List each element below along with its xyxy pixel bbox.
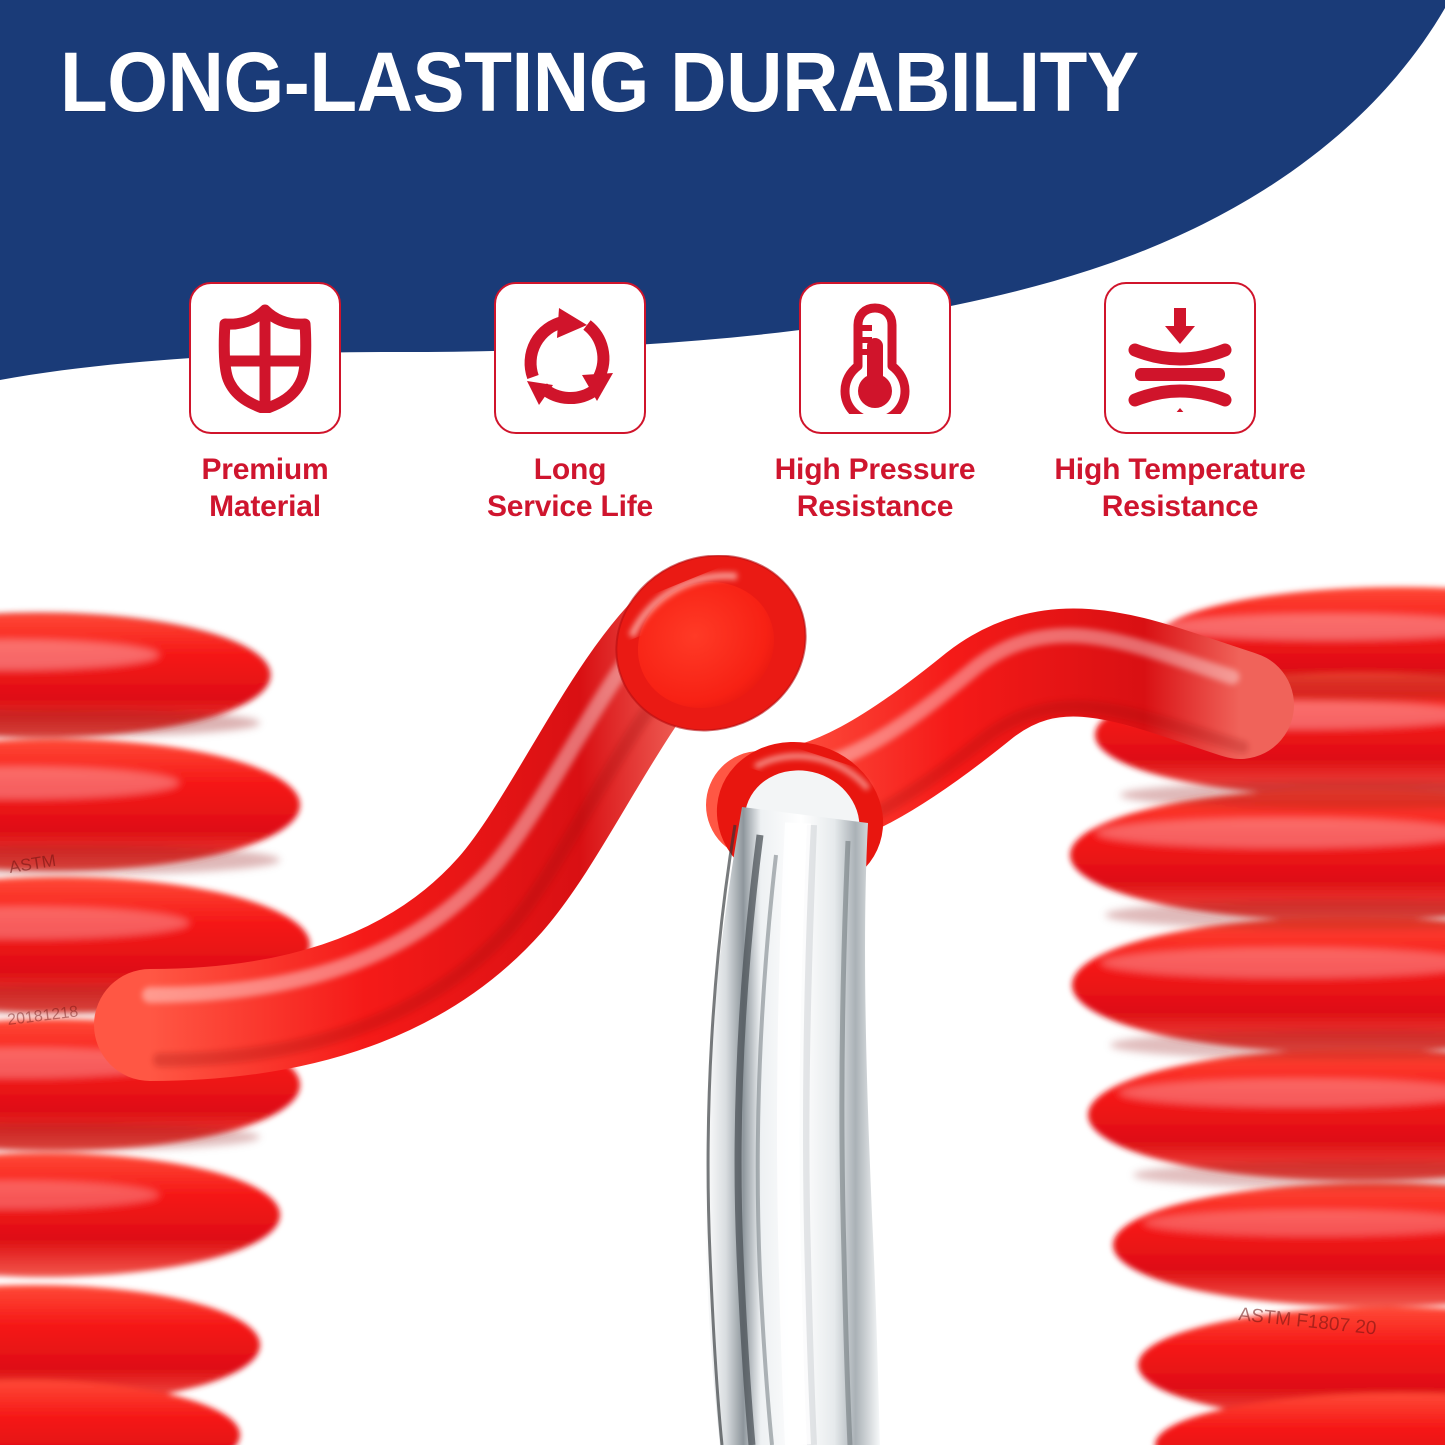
icon-box-high-temperature-resistance [1104,282,1256,434]
feature-label-high-pressure-resistance: High Pressure Resistance [775,452,976,525]
feature-label-high-temperature-resistance: High Temperature Resistance [1054,452,1305,525]
feature-item-long-service-life[interactable]: Long Service Life [418,282,723,525]
page-title: LONG-LASTING DURABILITY [60,40,1176,124]
icon-box-long-service-life [494,282,646,434]
feature-label-long-service-life: Long Service Life [487,452,653,525]
feature-row: Premium Material [0,282,1445,525]
shield-icon [213,303,317,413]
product-feature-image: LONG-LASTING DURABILITY Premium Material [0,0,1445,1445]
feature-label-premium-material: Premium Material [202,452,329,525]
water-stream [705,807,880,1445]
feature-item-high-temperature-resistance[interactable]: High Temperature Resistance [1028,282,1333,525]
feature-item-high-pressure-resistance[interactable]: High Pressure Resistance [723,282,1028,525]
product-photo: ASTM 20181218 [0,555,1445,1445]
recycle-cycle-icon [517,305,623,411]
icon-box-premium-material [189,282,341,434]
feature-item-premium-material[interactable]: Premium Material [113,282,418,525]
thermometer-icon [839,302,911,414]
icon-box-high-pressure-resistance [799,282,951,434]
compression-arrows-icon [1125,304,1235,412]
